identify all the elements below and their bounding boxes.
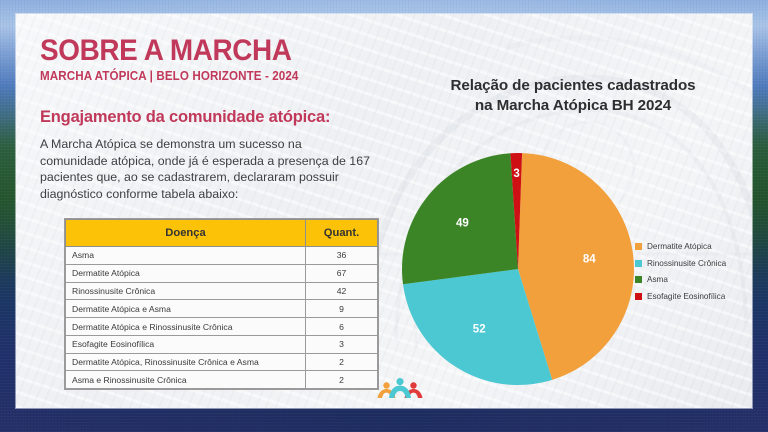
cell-doenca: Asma e Rinossinusite Crônica bbox=[66, 371, 306, 389]
legend-label: Rinossinusite Crônica bbox=[647, 259, 726, 268]
cell-quant: 2 bbox=[306, 371, 378, 389]
cell-doenca: Dermatite Atópica bbox=[66, 264, 306, 282]
cell-doenca: Rinossinusite Crônica bbox=[66, 282, 306, 300]
pie-slice-label: 49 bbox=[456, 217, 469, 229]
diagnosis-table: Doença Quant. Asma36Dermatite Atópica67R… bbox=[65, 219, 378, 389]
left-column: SOBRE A MARCHA MARCHA ATÓPICA | BELO HOR… bbox=[40, 36, 392, 202]
pie-slices bbox=[402, 153, 634, 385]
pie-chart: 8452493 bbox=[402, 153, 634, 385]
legend-item: Dermatite Atópica bbox=[635, 242, 726, 251]
cell-doenca: Dermatite Atópica e Rinossinusite Crônic… bbox=[66, 318, 306, 336]
table-row: Asma e Rinossinusite Crônica2 bbox=[66, 371, 378, 389]
chart-title-line2: na Marcha Atópica BH 2024 bbox=[475, 97, 671, 114]
pie-slice-label: 84 bbox=[583, 254, 596, 266]
body-paragraph: A Marcha Atópica se demonstra um sucesso… bbox=[40, 136, 370, 202]
cell-doenca: Dermatite Atópica, Rinossinusite Crônica… bbox=[66, 353, 306, 371]
page-title: SOBRE A MARCHA bbox=[40, 36, 367, 66]
section-title: Engajamento da comunidade atópica: bbox=[40, 108, 392, 127]
cell-quant: 3 bbox=[306, 335, 378, 353]
legend-item: Rinossinusite Crônica bbox=[635, 259, 726, 268]
marcha-atopica-logo bbox=[374, 376, 426, 402]
table-row: Dermatite Atópica e Rinossinusite Crônic… bbox=[66, 318, 378, 336]
cell-doenca: Dermatite Atópica e Asma bbox=[66, 300, 306, 318]
table-header-row: Doença Quant. bbox=[66, 220, 378, 247]
column-header-quant: Quant. bbox=[306, 220, 378, 247]
chart-legend: Dermatite AtópicaRinossinusite CrônicaAs… bbox=[635, 242, 726, 301]
chart-title: Relação de pacientes cadastrados na Marc… bbox=[408, 76, 738, 116]
column-header-doenca: Doença bbox=[66, 220, 306, 247]
pie-slice-label: 3 bbox=[513, 168, 519, 180]
pie-chart-svg: 8452493 bbox=[402, 153, 634, 385]
cell-doenca: Asma bbox=[66, 247, 306, 265]
table-body: Asma36Dermatite Atópica67Rinossinusite C… bbox=[66, 247, 378, 389]
page-subtitle: MARCHA ATÓPICA | BELO HORIZONTE - 2024 bbox=[40, 69, 367, 83]
cell-quant: 9 bbox=[306, 300, 378, 318]
legend-swatch-icon bbox=[635, 260, 642, 267]
cell-quant: 42 bbox=[306, 282, 378, 300]
cell-quant: 36 bbox=[306, 247, 378, 265]
table-row: Esofagite Eosinofílica3 bbox=[66, 335, 378, 353]
cell-quant: 6 bbox=[306, 318, 378, 336]
table-row: Dermatite Atópica, Rinossinusite Crônica… bbox=[66, 353, 378, 371]
logo-figure-cyan bbox=[389, 378, 411, 398]
legend-label: Esofagite Eosinofílica bbox=[647, 292, 725, 301]
cell-doenca: Esofagite Eosinofílica bbox=[66, 335, 306, 353]
table-row: Rinossinusite Crônica42 bbox=[66, 282, 378, 300]
legend-label: Asma bbox=[647, 275, 668, 284]
legend-label: Dermatite Atópica bbox=[647, 242, 712, 251]
legend-swatch-icon bbox=[635, 243, 642, 250]
cell-quant: 2 bbox=[306, 353, 378, 371]
table-row: Asma36 bbox=[66, 247, 378, 265]
legend-item: Asma bbox=[635, 275, 726, 284]
table-row: Dermatite Atópica67 bbox=[66, 264, 378, 282]
table-row: Dermatite Atópica e Asma9 bbox=[66, 300, 378, 318]
cell-quant: 67 bbox=[306, 264, 378, 282]
chart-title-line1: Relação de pacientes cadastrados bbox=[451, 77, 696, 94]
slide-panel: SOBRE A MARCHA MARCHA ATÓPICA | BELO HOR… bbox=[16, 14, 752, 408]
legend-swatch-icon bbox=[635, 293, 642, 300]
pie-slice-label: 52 bbox=[473, 324, 486, 336]
legend-swatch-icon bbox=[635, 276, 642, 283]
legend-item: Esofagite Eosinofílica bbox=[635, 292, 726, 301]
